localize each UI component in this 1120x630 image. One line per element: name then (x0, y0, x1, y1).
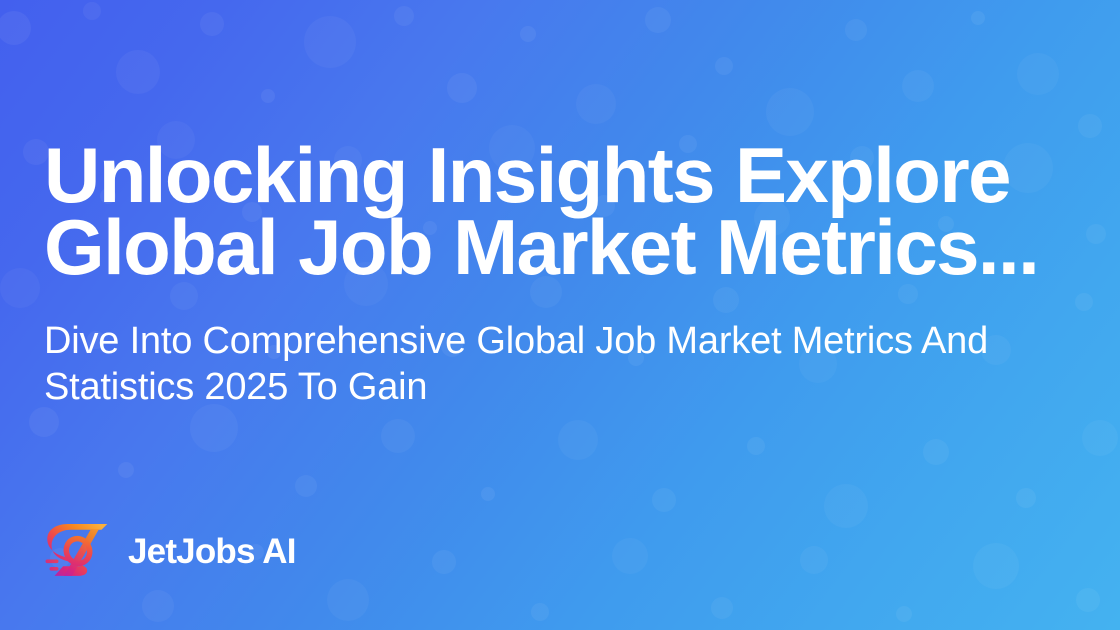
jetjobs-swoosh-logo-icon (44, 519, 112, 583)
social-share-card: Unlocking Insights Explore Global Job Ma… (0, 0, 1120, 630)
brand-lockup: JetJobs AI (44, 519, 296, 583)
brand-wordmark: JetJobs AI (128, 534, 296, 569)
page-title: Unlocking Insights Explore Global Job Ma… (44, 139, 1064, 283)
card-content: Unlocking Insights Explore Global Job Ma… (44, 0, 1120, 630)
page-subtitle: Dive Into Comprehensive Global Job Marke… (44, 318, 1084, 410)
